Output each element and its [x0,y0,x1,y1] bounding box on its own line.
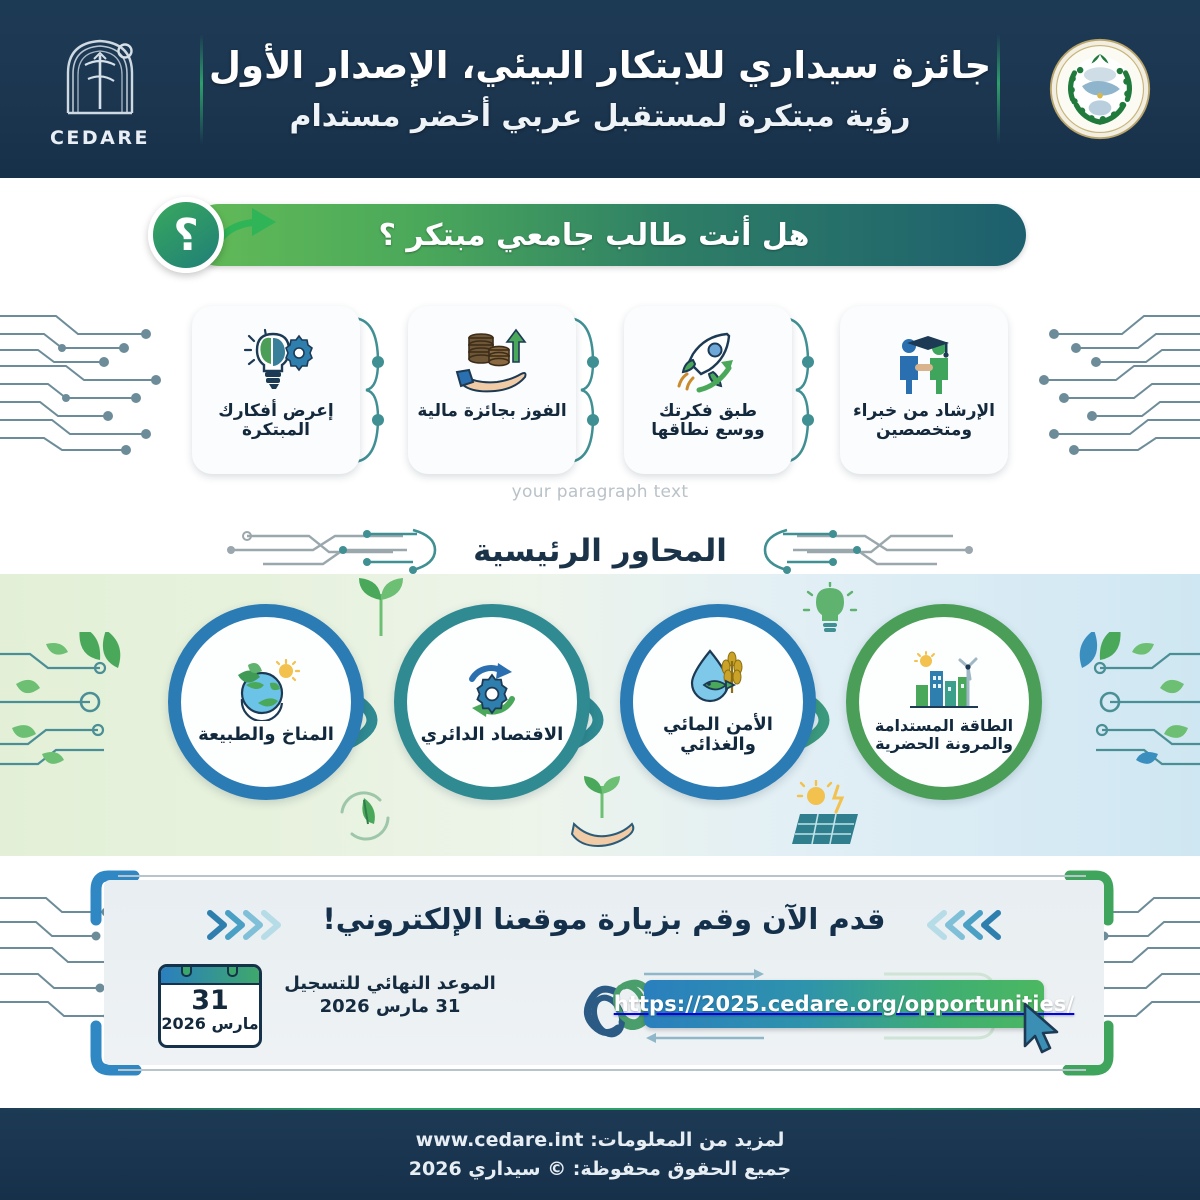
circuit-flourish-left-icon [217,522,457,580]
question-banner-text: هل أنت طالب جامعي مبتكر ؟ [379,218,836,253]
calendar-day: 31 [161,987,259,1014]
mentorship-handshake-icon [887,328,961,396]
theme-circle-circular-economy[interactable]: الاقتصاد الدائري [394,604,590,800]
calendar-ring-left [181,964,192,977]
deadline-date: 31 مارس 2026 [280,995,500,1018]
benefits-cards-row: الإرشاد من خبراء ومتخصصين طبق فكرتك ووسع… [180,300,1030,485]
benefit-card-cash-prize[interactable]: الفوز بجائزة مالية [408,306,576,474]
hand-coins-icon [455,328,529,396]
page-subtitle: رؤية مبتكرة لمستقبل عربي أخضر مستدام [289,99,910,134]
mouse-cursor-icon [1019,1002,1065,1064]
header-title-group: جائزة سيداري للابتكار البيئي، الإصدار ال… [203,0,997,178]
website-url-button[interactable]: https://2025.cedare.org/opportunities/ [644,980,1044,1028]
footer-more-info: لمزيد من المعلومات: www.cedare.int [416,1129,785,1151]
footer-separator [0,1108,1200,1110]
earth-sun-leaf-icon [232,659,300,721]
circuit-flourish-right-icon [743,522,983,580]
infographic-poster: CEDARE جائزة سيداري للابتكار البيئي، الإ… [0,0,1200,1200]
website-url-text: https://2025.cedare.org/opportunities/ [614,992,1075,1016]
calendar-ring-right [227,964,238,977]
footer-copyright: جميع الحقوق محفوظة: © سيداري 2026 [409,1158,791,1180]
benefit-card-label: إعرض أفكارك المبتكرة [192,402,360,440]
benefit-card-scale-idea[interactable]: طبق فكرتك ووسع نطاقها [624,306,792,474]
theme-label: الأمن المائي والغذائي [633,715,803,755]
chevrons-left-icon [200,908,292,942]
circuit-decoration-top-left [0,298,181,477]
water-drop-fish-wheat-icon [684,649,752,711]
question-mark-glyph: ؟ [173,210,199,261]
lightbulb-gear-icon [239,328,313,396]
question-mark-badge: ؟ [148,197,224,273]
theme-circle-water-food[interactable]: الأمن المائي والغذائي [620,604,816,800]
cedare-mark-icon [52,29,148,125]
cedare-logo: CEDARE [0,0,200,178]
themes-title: المحاور الرئيسية [473,533,727,569]
themes-section-heading: المحاور الرئيسية [0,520,1200,582]
benefit-card-label: الإرشاد من خبراء ومتخصصين [840,402,1008,440]
deadline-block: الموعد النهائي للتسجيل 31 مارس 2026 [280,972,500,1019]
theme-circle-climate[interactable]: المناخ والطبيعة [168,604,364,800]
placeholder-paragraph: your paragraph text [0,482,1200,502]
chevrons-right-icon [916,908,1008,942]
page-title: جائزة سيداري للابتكار البيئي، الإصدار ال… [209,44,991,87]
circuit-decoration-top-right [1019,298,1200,477]
recycle-gear-icon [458,659,526,721]
cedare-wordmark: CEDARE [50,127,150,149]
benefit-card-present-ideas[interactable]: إعرض أفكارك المبتكرة [192,306,360,474]
theme-label: الاقتصاد الدائري [411,725,574,745]
sprout-decoration-icon [346,574,416,640]
calendar-header [161,967,259,985]
theme-circle-energy-urban[interactable]: الطاقة المستدامة والمرونة الحضرية [846,604,1042,800]
theme-label: الطاقة المستدامة والمرونة الحضرية [859,717,1029,753]
calendar-icon: 31 مارس 2026 [158,964,262,1048]
footer-bar: لمزيد من المعلومات: www.cedare.int جميع … [0,1108,1200,1200]
calendar-month: مارس 2026 [161,1014,259,1033]
arab-league-emblem-icon [1048,37,1152,141]
partner-emblem [1000,0,1200,178]
cta-panel: قدم الآن وقم بزيارة موقعنا الإلكتروني! [104,880,1104,1065]
rocket-growth-icon [671,328,745,396]
theme-label: المناخ والطبيعة [188,725,344,745]
themes-band: المناخ والطبيعة الاقتصاد الدائري [0,574,1200,856]
question-banner: هل أنت طالب جامعي مبتكر ؟ [188,204,1026,266]
deadline-label: الموعد النهائي للتسجيل [280,972,500,995]
benefit-card-label: الفوز بجائزة مالية [409,402,574,421]
city-wind-solar-icon [910,651,978,713]
benefit-card-mentorship[interactable]: الإرشاد من خبراء ومتخصصين [840,306,1008,474]
header-bar: CEDARE جائزة سيداري للابتكار البيئي، الإ… [0,0,1200,178]
benefit-card-label: طبق فكرتك ووسع نطاقها [624,402,792,440]
